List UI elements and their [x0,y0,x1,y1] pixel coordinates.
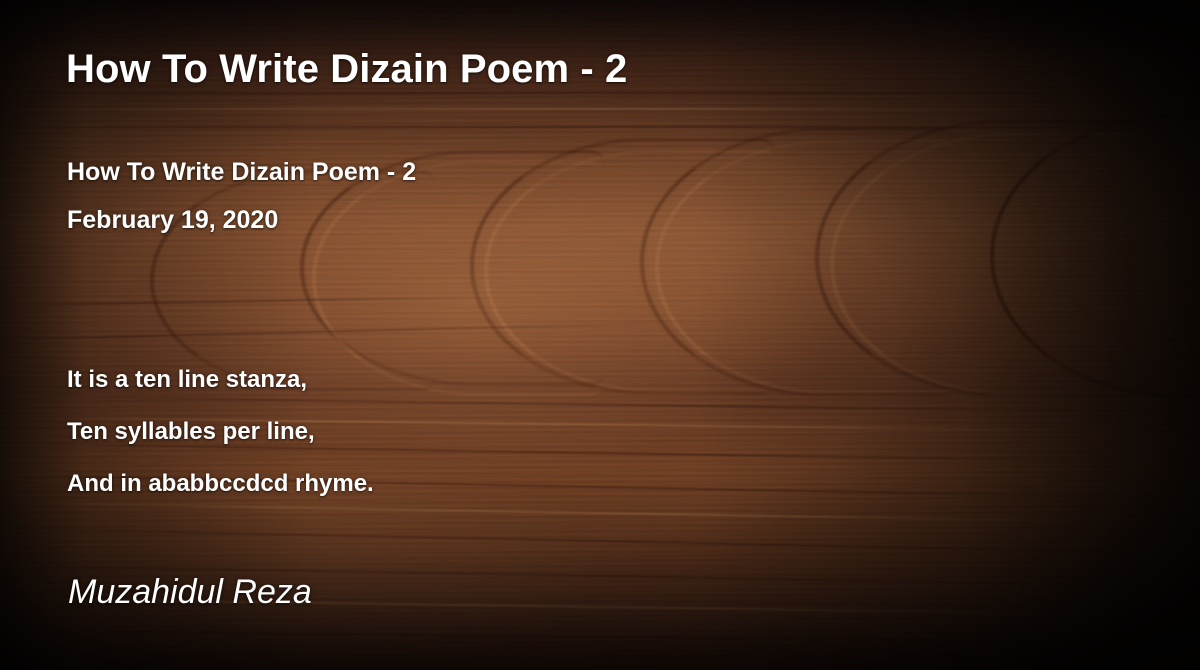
poem-subtitle: How To Write Dizain Poem - 2 [67,158,416,187]
poem-body-line: Ten syllables per line, [67,418,315,446]
poem-title: How To Write Dizain Poem - 2 [66,47,627,92]
poem-body-line: And in ababbccdcd rhyme. [67,470,374,498]
poem-text-content: How To Write Dizain Poem - 2 How To Writ… [0,0,1200,670]
poem-date: February 19, 2020 [67,206,278,235]
poem-image-card: How To Write Dizain Poem - 2 How To Writ… [0,0,1200,670]
poem-author-signature: Muzahidul Reza [68,573,312,612]
poem-body-line: It is a ten line stanza, [67,366,307,394]
